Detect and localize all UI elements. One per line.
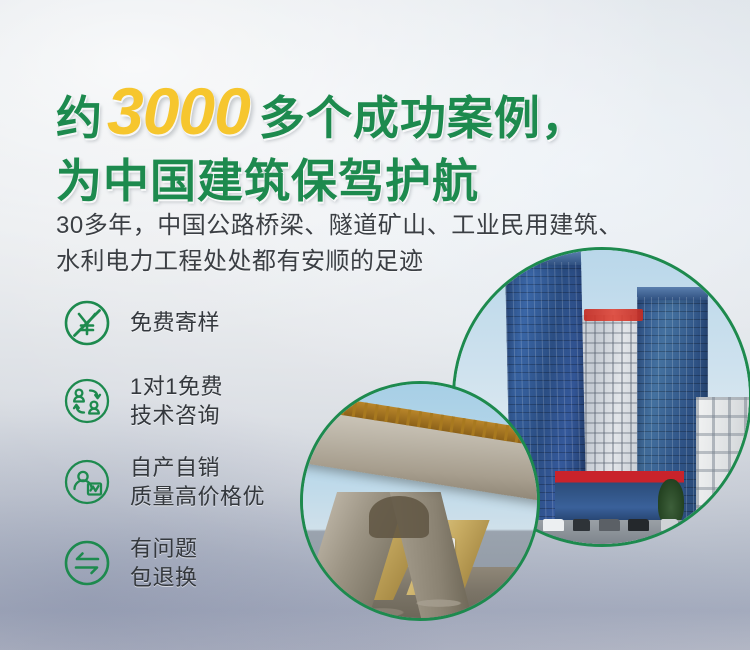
feature-line-2: 质量高价格优	[130, 482, 265, 511]
feature-line-2: 包退换	[130, 563, 198, 592]
rubble	[303, 581, 537, 618]
parked-car	[573, 519, 591, 531]
promo-banner: 约 3000 多个成功案例， 为中国建筑保驾护航 30多年，中国公路桥梁、隧道矿…	[0, 0, 750, 650]
feature-text-free-sample: 免费寄样	[130, 308, 220, 337]
feature-text-self-produce: 自产自销 质量高价格优	[130, 453, 265, 512]
feature-line-1: 自产自销	[130, 453, 265, 482]
feature-text-consult: 1对1免费 技术咨询	[130, 372, 223, 431]
headline-suffix: 多个成功案例，	[259, 95, 588, 141]
one-to-one-consult-icon	[60, 374, 114, 428]
subcopy-block: 30多年，中国公路桥梁、隧道矿山、工业民用建筑、 水利电力工程处处都有安顺的足迹	[56, 208, 623, 281]
headline-line-2: 为中国建筑保驾护航	[56, 158, 588, 204]
rooftop-sign	[584, 309, 643, 321]
bridge-scene	[303, 384, 537, 618]
parked-car	[661, 519, 679, 531]
feature-line-2: 技术咨询	[130, 401, 223, 430]
subcopy-line-1: 30多年，中国公路桥梁、隧道矿山、工业民用建筑、	[56, 208, 623, 244]
headline-number: 3000	[107, 78, 250, 144]
free-sample-icon	[60, 296, 114, 350]
feature-item-return-exchange[interactable]: 有问题 包退换	[60, 534, 310, 593]
parked-car	[628, 519, 649, 531]
tower-cap	[637, 287, 708, 299]
feature-list: 免费寄样 1对1免费 技术咨询	[60, 296, 310, 593]
feature-item-free-sample[interactable]: 免费寄样	[60, 296, 310, 350]
parked-car	[599, 519, 620, 531]
feature-item-self-produce[interactable]: 自产自销 质量高价格优	[60, 453, 310, 512]
feature-line-1: 1对1免费	[130, 372, 223, 401]
feature-item-consult[interactable]: 1对1免费 技术咨询	[60, 372, 310, 431]
return-exchange-icon	[60, 536, 114, 590]
bridge-photo	[300, 381, 540, 621]
pier-shadow	[369, 496, 430, 538]
feature-line-1: 免费寄样	[130, 310, 220, 335]
headline-line-1: 约 3000 多个成功案例，	[56, 78, 588, 144]
headline-block: 约 3000 多个成功案例， 为中国建筑保驾护航	[56, 78, 588, 204]
parked-car	[543, 519, 564, 531]
feature-text-return-exchange: 有问题 包退换	[130, 534, 198, 593]
self-produce-sale-icon	[60, 455, 114, 509]
subcopy-line-2: 水利电力工程处处都有安顺的足迹	[56, 244, 623, 280]
feature-line-1: 有问题	[130, 534, 198, 563]
headline-prefix: 约	[56, 95, 103, 141]
